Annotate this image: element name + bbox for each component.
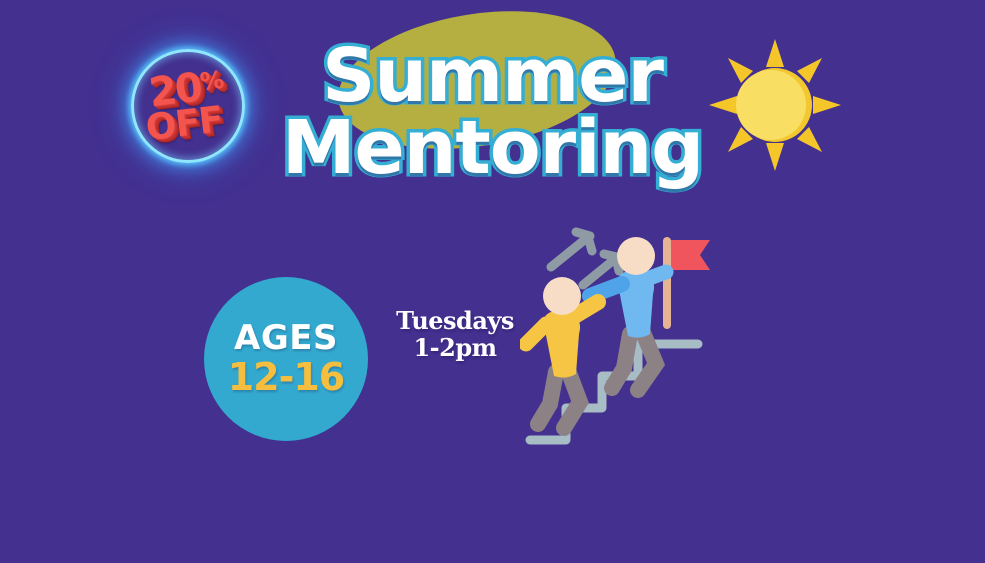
discount-badge-line2: OFF: [144, 105, 224, 144]
ages-label: AGES: [234, 321, 338, 355]
mentee-head: [543, 277, 581, 315]
sun-icon: [700, 30, 850, 180]
mentee-arm-left: [526, 324, 546, 344]
ages-range: 12-16: [228, 358, 345, 398]
mentor-arm-right: [644, 272, 666, 280]
ages-badge: AGES 12-16: [204, 277, 368, 441]
percent-symbol: %: [198, 66, 223, 96]
schedule-text: Tuesdays 1-2pm: [380, 308, 530, 362]
mentor-head: [617, 237, 655, 275]
schedule-time: 1-2pm: [380, 335, 530, 362]
schedule-day: Tuesdays: [380, 308, 530, 335]
mentoring-stairs-illustration: [520, 222, 720, 454]
discount-badge-text: 20% OFF: [124, 42, 251, 169]
mentee-legs: [538, 370, 580, 428]
discount-badge[interactable]: 20% OFF: [131, 49, 245, 163]
title-blob-shape: [328, 0, 625, 167]
poster-canvas: 20% OFF Summer Mentoring: [0, 0, 985, 563]
mentor-arm-left: [590, 284, 622, 296]
flag-pole-shape: [663, 237, 671, 329]
flag-shape: [671, 240, 710, 270]
up-arrow-icon: [551, 232, 592, 267]
